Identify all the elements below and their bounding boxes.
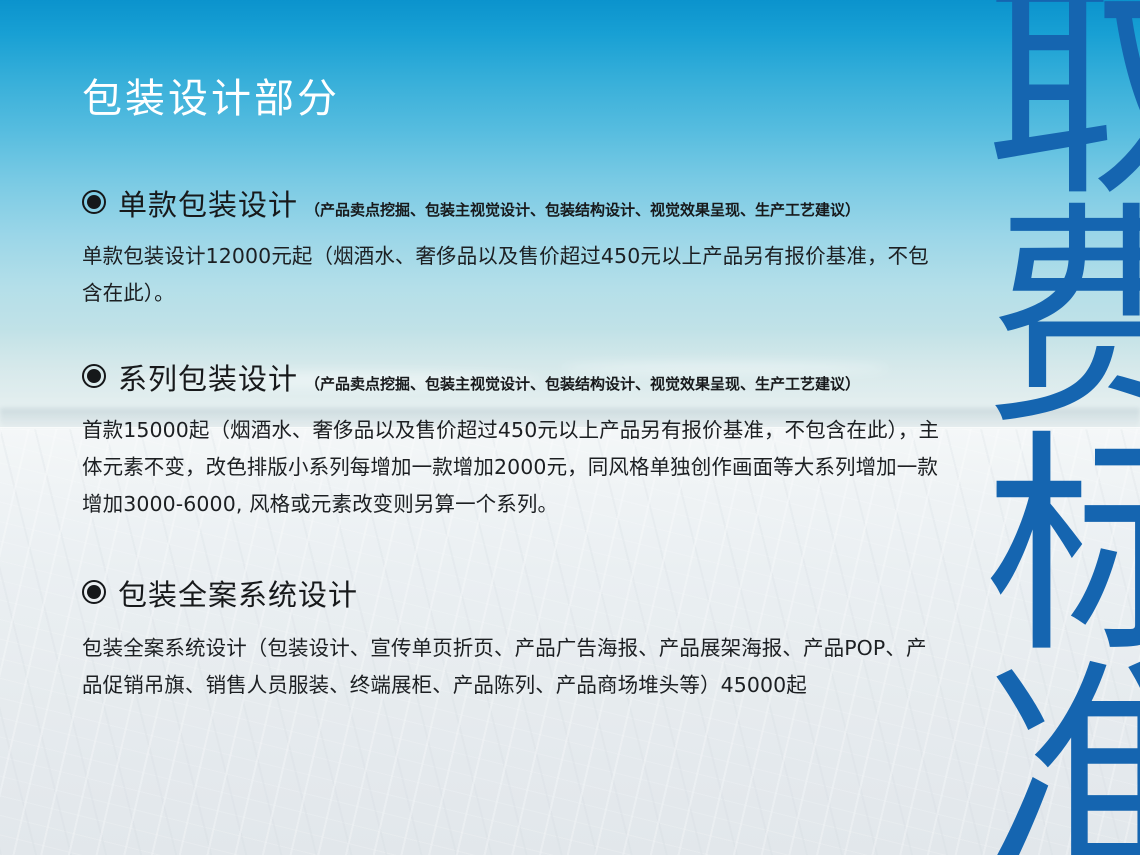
section-full-system-package-design: 包装全案系统设计 包装全案系统设计（包装设计、宣传单页折页、产品广告海报、产品展… bbox=[82, 572, 944, 704]
section-title: 包装全案系统设计 bbox=[118, 572, 358, 614]
side-watermark-text: 取 费 标 准 bbox=[985, 0, 1140, 855]
side-char-1: 取 bbox=[985, 0, 1140, 206]
section-single-package-design: 单款包装设计 （产品卖点挖掘、包装主视觉设计、包装结构设计、视觉效果呈现、生产工… bbox=[82, 182, 944, 312]
section-body-text: 首款15000起（烟酒水、奢侈品以及售价超过450元以上产品另有报价基准，不包含… bbox=[82, 412, 944, 523]
section-subtitle: （产品卖点挖掘、包装主视觉设计、包装结构设计、视觉效果呈现、生产工艺建议） bbox=[305, 373, 860, 394]
page-title: 包装设计部分 bbox=[82, 66, 340, 124]
slide-content: 包装设计部分 单款包装设计 （产品卖点挖掘、包装主视觉设计、包装结构设计、视觉效… bbox=[0, 0, 960, 855]
slide-canvas: 取 费 标 准 包装设计部分 单款包装设计 （产品卖点挖掘、包装主视觉设计、包装… bbox=[0, 0, 1140, 855]
side-char-4: 准 bbox=[985, 662, 1140, 855]
section-heading: 单款包装设计 （产品卖点挖掘、包装主视觉设计、包装结构设计、视觉效果呈现、生产工… bbox=[82, 182, 944, 224]
section-body-text: 包装全案系统设计（包装设计、宣传单页折页、产品广告海报、产品展架海报、产品POP… bbox=[82, 630, 944, 704]
section-title: 系列包装设计 bbox=[118, 356, 298, 398]
filled-ring-bullet-icon bbox=[82, 364, 106, 388]
section-series-package-design: 系列包装设计 （产品卖点挖掘、包装主视觉设计、包装结构设计、视觉效果呈现、生产工… bbox=[82, 356, 944, 523]
side-char-2: 费 bbox=[985, 206, 1140, 434]
section-body-text: 单款包装设计12000元起（烟酒水、奢侈品以及售价超过450元以上产品另有报价基… bbox=[82, 238, 944, 312]
section-heading: 包装全案系统设计 bbox=[82, 572, 944, 614]
filled-ring-bullet-icon bbox=[82, 190, 106, 214]
side-char-3: 标 bbox=[985, 434, 1140, 662]
filled-ring-bullet-icon bbox=[82, 580, 106, 604]
section-title: 单款包装设计 bbox=[118, 182, 298, 224]
section-heading: 系列包装设计 （产品卖点挖掘、包装主视觉设计、包装结构设计、视觉效果呈现、生产工… bbox=[82, 356, 944, 398]
section-subtitle: （产品卖点挖掘、包装主视觉设计、包装结构设计、视觉效果呈现、生产工艺建议） bbox=[305, 199, 860, 220]
